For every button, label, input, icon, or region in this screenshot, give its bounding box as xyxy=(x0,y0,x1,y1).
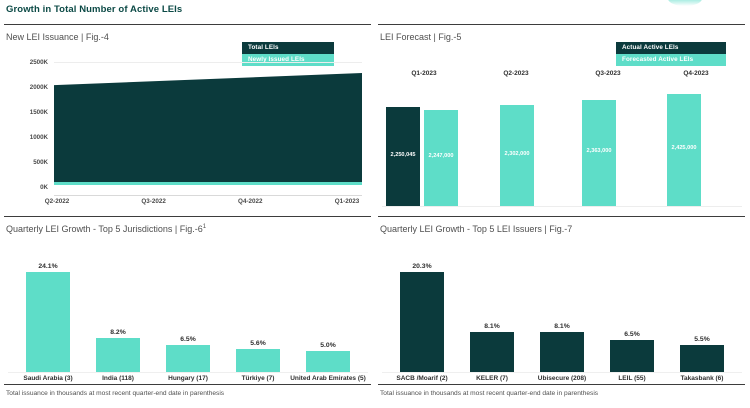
legend-item-actual-active-leis: Actual Active LEIs xyxy=(616,42,726,54)
chart-fig5-bars: Q1-2023 Q2-2023 Q3-2023 Q4-2023 2,250,04… xyxy=(382,70,742,206)
y-tick-1500k: 1500K xyxy=(14,109,48,116)
panel-top-issuers: Quarterly LEI Growth - Top 5 LEI Issuers… xyxy=(378,216,745,406)
x-label-india: India (118) xyxy=(80,374,156,383)
footnote-fig7: Total issuance in thousands at most rece… xyxy=(380,390,598,397)
x-label-ubisecure: Ubisecure (208) xyxy=(524,374,600,383)
y-tick-0k: 0K xyxy=(14,184,48,191)
x-axis-fig4 xyxy=(54,195,362,196)
x-label-leil: LEIL (55) xyxy=(594,374,670,383)
bar-rect-india xyxy=(96,338,140,372)
bar-value-saudi-arabia: 24.1% xyxy=(38,263,57,270)
bar-col-sacb-moarif[interactable]: 20.3% xyxy=(388,242,456,372)
bar-col-saudi-arabia[interactable]: 24.1% xyxy=(14,242,82,372)
bar-rect-ubisecure xyxy=(540,332,584,372)
gridline xyxy=(54,62,362,63)
bar-col-ubisecure[interactable]: 8.1% xyxy=(528,242,596,372)
chart-fig4-area: 2500K 2000K 1500K 1000K 500K 0K Q2-2022 … xyxy=(8,62,368,210)
bar-col-keler[interactable]: 8.1% xyxy=(458,242,526,372)
x-label-keler: KELER (7) xyxy=(454,374,530,383)
bar-q3-forecast[interactable]: 2,363,000 xyxy=(582,100,616,206)
bar-col-united-arab-emirates[interactable]: 5.0% xyxy=(294,242,362,372)
plot-area-fig4 xyxy=(54,62,362,190)
x-tick-q4-2022: Q4-2022 xyxy=(221,198,279,205)
panel-title-fig6-superscript: 1 xyxy=(203,224,206,230)
bar-value-q2-forecast: 2,302,000 xyxy=(505,151,530,157)
bar-q2-forecast[interactable]: 2,302,000 xyxy=(500,105,534,206)
panel-divider xyxy=(378,24,745,25)
bar-col-hungary[interactable]: 6.5% xyxy=(154,242,222,372)
bar-q4-forecast[interactable]: 2,425,000 xyxy=(667,94,701,206)
bar-q1-forecast[interactable]: 2,247,000 xyxy=(424,110,458,206)
bar-col-turkiye[interactable]: 5.6% xyxy=(224,242,292,372)
x-label-hungary: Hungary (17) xyxy=(150,374,226,383)
bar-value-india: 8.2% xyxy=(110,329,126,336)
bar-group-q4-2023: 2,425,000 xyxy=(667,106,750,206)
bar-rect-turkiye xyxy=(236,349,280,372)
bar-value-hungary: 6.5% xyxy=(180,336,196,343)
y-axis-fig4: 2500K 2000K 1500K 1000K 500K 0K xyxy=(8,62,48,190)
panel-divider xyxy=(4,24,371,25)
bar-value-q1-actual: 2,250,045 xyxy=(391,152,416,158)
panel-lei-forecast: LEI Forecast | Fig.-5 Actual Active LEIs… xyxy=(378,24,745,210)
report-page: Growth in Total Number of Active LEIs Ne… xyxy=(0,0,750,408)
x-label-saudi-arabia: Saudi Arabia (3) xyxy=(10,374,86,383)
y-tick-500k: 500K xyxy=(14,159,48,166)
legend-fig5: Actual Active LEIs Forecasted Active LEI… xyxy=(616,42,726,66)
panel-divider xyxy=(4,216,371,217)
bar-value-ubisecure: 8.1% xyxy=(554,323,570,330)
bar-value-q4-forecast: 2,425,000 xyxy=(672,145,697,151)
bar-rect-saudi-arabia xyxy=(26,272,70,372)
footnote-fig6: Total issuance in thousands at most rece… xyxy=(6,390,224,397)
fc-category-q1-2023: Q1-2023 xyxy=(382,70,466,77)
x-tick-labels-fig4: Q2-2022 Q3-2022 Q4-2022 Q1-2023 xyxy=(28,198,376,205)
x-axis-fig6 xyxy=(8,372,368,373)
bar-rect-keler xyxy=(470,332,514,372)
x-label-sacb-moarif: SACB /Moarif (2) xyxy=(384,374,460,383)
panel-title-fig6: Quarterly LEI Growth - Top 5 Jurisdictio… xyxy=(6,224,206,234)
bar-group-q2-2023: 2,302,000 xyxy=(500,106,584,206)
footnote-divider xyxy=(4,384,371,385)
x-axis-fig7 xyxy=(382,372,742,373)
panel-title-fig6-text: Quarterly LEI Growth - Top 5 Jurisdictio… xyxy=(6,224,203,234)
bar-value-leil: 6.5% xyxy=(624,331,640,338)
x-tick-q1-2023: Q1-2023 xyxy=(318,198,376,205)
x-label-turkiye: Türkiye (7) xyxy=(220,374,296,383)
bar-rect-leil xyxy=(610,340,654,372)
area-series-total-leis xyxy=(54,73,362,183)
bar-value-united-arab-emirates: 5.0% xyxy=(320,342,336,349)
x-tick-q3-2022: Q3-2022 xyxy=(125,198,183,205)
panel-top-jurisdictions: Quarterly LEI Growth - Top 5 Jurisdictio… xyxy=(4,216,371,406)
bar-rect-hungary xyxy=(166,345,210,372)
baseline-fig5 xyxy=(382,206,742,207)
bar-q1-actual[interactable]: 2,250,045 xyxy=(386,107,420,206)
bar-value-takasbank: 5.5% xyxy=(694,336,710,343)
bar-rect-united-arab-emirates xyxy=(306,351,350,372)
chart-fig6-bars: 24.1% 8.2% 6.5% 5.6% 5.0% xyxy=(8,242,368,372)
page-title: Growth in Total Number of Active LEIs xyxy=(6,4,182,15)
panel-title-fig7: Quarterly LEI Growth - Top 5 LEI Issuers… xyxy=(380,224,572,234)
fc-category-q2-2023: Q2-2023 xyxy=(474,70,558,77)
y-tick-1000k: 1000K xyxy=(14,134,48,141)
bar-col-india[interactable]: 8.2% xyxy=(84,242,152,372)
panel-divider xyxy=(378,216,745,217)
y-tick-2000k: 2000K xyxy=(14,84,48,91)
panel-new-lei-issuance: New LEI Issuance | Fig.-4 Total LEIs New… xyxy=(4,24,371,210)
bar-value-turkiye: 5.6% xyxy=(250,340,266,347)
bar-col-takasbank[interactable]: 5.5% xyxy=(668,242,736,372)
bar-value-q1-forecast: 2,247,000 xyxy=(429,153,454,159)
footnote-divider xyxy=(378,384,745,385)
panel-title-fig4: New LEI Issuance | Fig.-4 xyxy=(6,32,109,42)
legend-item-total-leis: Total LEIs xyxy=(242,42,334,54)
bar-rect-sacb-moarif xyxy=(400,272,444,372)
x-label-takasbank: Takasbank (6) xyxy=(664,374,740,383)
fc-category-q3-2023: Q3-2023 xyxy=(566,70,650,77)
brand-arc-graphic xyxy=(668,0,702,6)
bar-value-sacb-moarif: 20.3% xyxy=(412,263,431,270)
bar-col-leil[interactable]: 6.5% xyxy=(598,242,666,372)
bar-group-q1-2023: 2,250,045 2,247,000 xyxy=(386,106,470,206)
bar-value-keler: 8.1% xyxy=(484,323,500,330)
bar-group-q3-2023: 2,363,000 xyxy=(582,106,666,206)
x-label-united-arab-emirates: United Arab Emirates (5) xyxy=(290,374,366,383)
bar-value-q3-forecast: 2,363,000 xyxy=(587,148,612,154)
bar-rect-takasbank xyxy=(680,345,724,372)
area-series-newly-issued-leis xyxy=(54,182,362,185)
x-tick-q2-2022: Q2-2022 xyxy=(28,198,86,205)
chart-fig7-bars: 20.3% 8.1% 8.1% 6.5% 5.5% xyxy=(382,242,742,372)
fc-category-q4-2023: Q4-2023 xyxy=(654,70,738,77)
panel-title-fig5: LEI Forecast | Fig.-5 xyxy=(380,32,461,42)
legend-item-forecasted-active-leis: Forecasted Active LEIs xyxy=(616,54,726,66)
y-tick-2500k: 2500K xyxy=(14,59,48,66)
